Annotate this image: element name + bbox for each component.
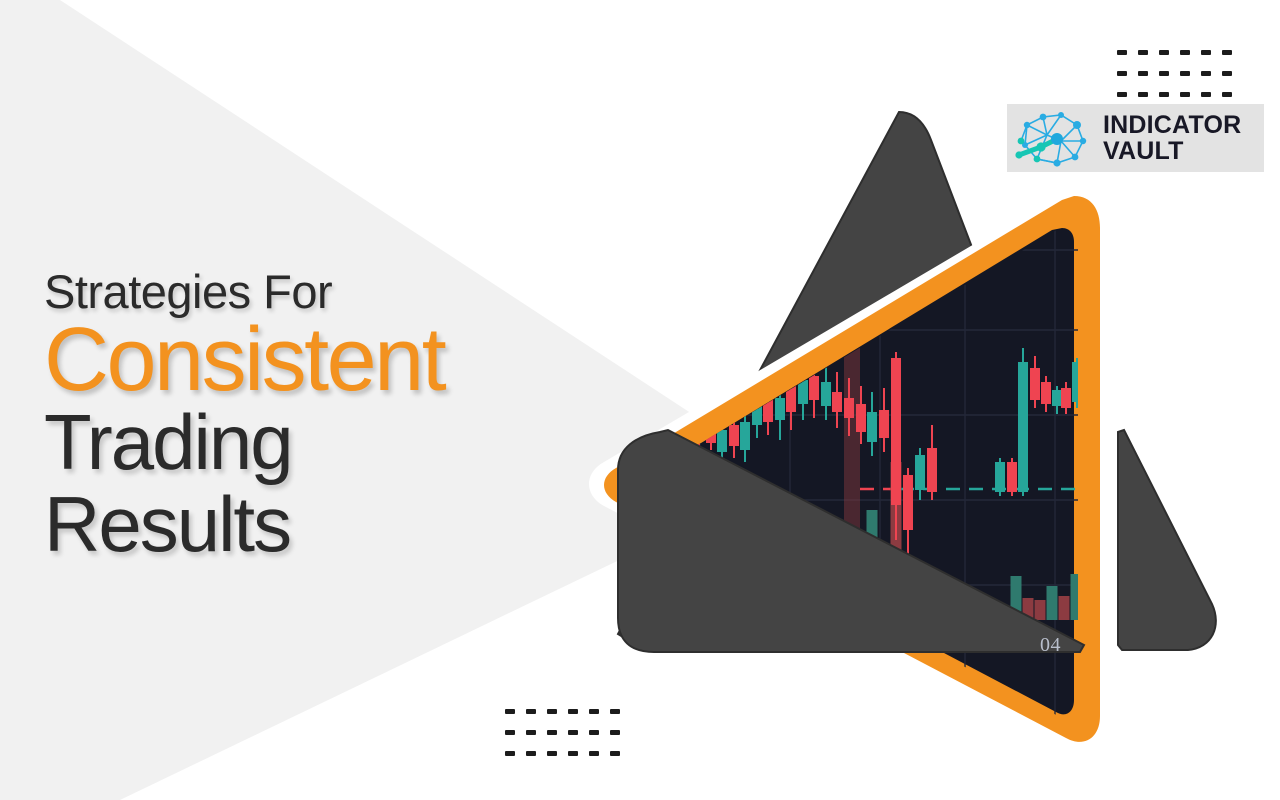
dot [505,730,515,735]
headline-line-4: Results [44,485,444,563]
dot [589,751,599,756]
dot [610,751,620,756]
dot [1138,92,1148,97]
dot [1159,92,1169,97]
dot [1222,71,1232,76]
brand-logo-text: INDICATOR VAULT [1103,112,1241,165]
dot [505,709,515,714]
headline-line-3: Trading [44,403,444,481]
dot [610,709,620,714]
dot-grid-bottom-left [505,701,631,764]
dot [526,730,536,735]
dot [505,751,515,756]
dot [1117,92,1127,97]
dot [1138,50,1148,55]
dot [1138,71,1148,76]
dot [1180,92,1190,97]
chart-time-axis-label: 04 [1040,634,1061,657]
right-triangle [1118,430,1216,650]
dot [1180,71,1190,76]
dot [547,751,557,756]
headline-line-2-accent: Consistent [44,315,444,405]
dot [1201,92,1211,97]
dot [526,751,536,756]
headline-line-1: Strategies For [44,268,444,315]
dot [547,709,557,714]
logo-text-line-2: VAULT [1103,138,1241,165]
dot [610,730,620,735]
dot [1159,50,1169,55]
dot [589,730,599,735]
dot [1222,50,1232,55]
dot [1201,50,1211,55]
dot [568,730,578,735]
dot [1159,71,1169,76]
dot-grid-top-right [1117,42,1243,105]
dot [1117,50,1127,55]
dot [568,751,578,756]
dot [1222,92,1232,97]
brand-logo[interactable]: INDICATOR VAULT [1007,104,1264,172]
dot [547,730,557,735]
dot [1201,71,1211,76]
dot [1180,50,1190,55]
bottom-left-triangle [618,430,1084,652]
logo-text-line-1: INDICATOR [1103,111,1241,139]
promo-banner: 04 Strategies For Consistent Trading Res… [0,0,1280,800]
page-title: Strategies For Consistent Trading Result… [44,268,444,563]
dot [568,709,578,714]
dot [589,709,599,714]
dot [1117,71,1127,76]
dot [526,709,536,714]
network-nodes-icon [1013,107,1095,169]
